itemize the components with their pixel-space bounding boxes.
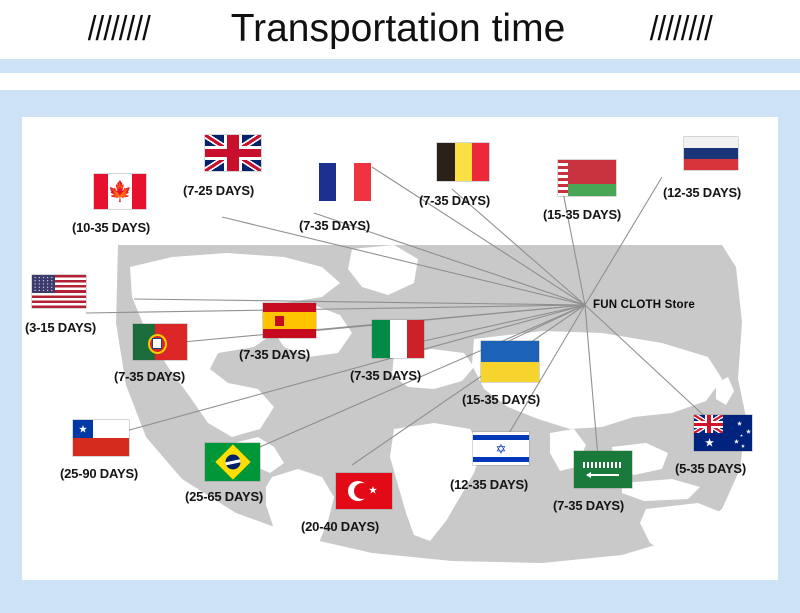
flag-france-icon [319,163,371,201]
ukraine-days-label: (15-35 DAYS) [462,392,540,407]
flag-canada-icon: 🍁 [94,174,146,209]
decor-slashes-right: //////// [650,10,712,49]
turkey-days-label: (20-40 DAYS) [301,519,379,534]
flag-ukraine-icon [481,341,539,382]
flag-belgium-icon [437,143,489,181]
flag-usa-icon [32,275,86,308]
russia-days-label: (12-35 DAYS) [663,185,741,200]
hub-store-label: FUN CLOTH Store [593,299,695,311]
belgium-days-label: (7-35 DAYS) [419,193,490,208]
header-gap [0,73,800,90]
flag-saudi-arabia-icon [574,451,632,488]
canada-days-label: (10-35 DAYS) [72,220,150,235]
flag-russia-icon [684,137,738,170]
flag-italy-icon [372,320,424,358]
usa-days-label: (3-15 DAYS) [25,320,96,335]
israel-days-label: (12-35 DAYS) [450,477,528,492]
portugal-days-label: (7-35 DAYS) [114,369,185,384]
shipping-map-panel: FUN CLOTH Store 🍁 (10-35 DAYS) (7-25 DAY… [22,117,778,580]
flag-brazil-icon [205,443,260,481]
brazil-days-label: (25-65 DAYS) [185,489,263,504]
uk-days-label: (7-25 DAYS) [183,183,254,198]
flag-australia-icon [694,415,752,451]
italy-days-label: (7-35 DAYS) [350,368,421,383]
page-title: Transportation time [231,7,566,51]
saudi-arabia-days-label: (7-35 DAYS) [553,498,624,513]
flag-turkey-icon [336,473,392,509]
france-days-label: (7-35 DAYS) [299,218,370,233]
chile-days-label: (25-90 DAYS) [60,466,138,481]
decor-slashes-left: //////// [88,10,150,49]
flag-israel-icon: ✡ [473,432,529,465]
flag-portugal-icon [133,324,187,360]
spain-days-label: (7-35 DAYS) [239,347,310,362]
header-divider-bar [0,59,800,73]
flag-chile-icon [73,420,129,456]
belarus-days-label: (15-35 DAYS) [543,207,621,222]
page-header: //////// Transportation time //////// [0,0,800,58]
flag-belarus-icon [558,160,616,196]
flag-uk-icon [205,135,261,171]
flag-spain-icon [263,303,316,338]
australia-days-label: (5-35 DAYS) [675,461,746,476]
